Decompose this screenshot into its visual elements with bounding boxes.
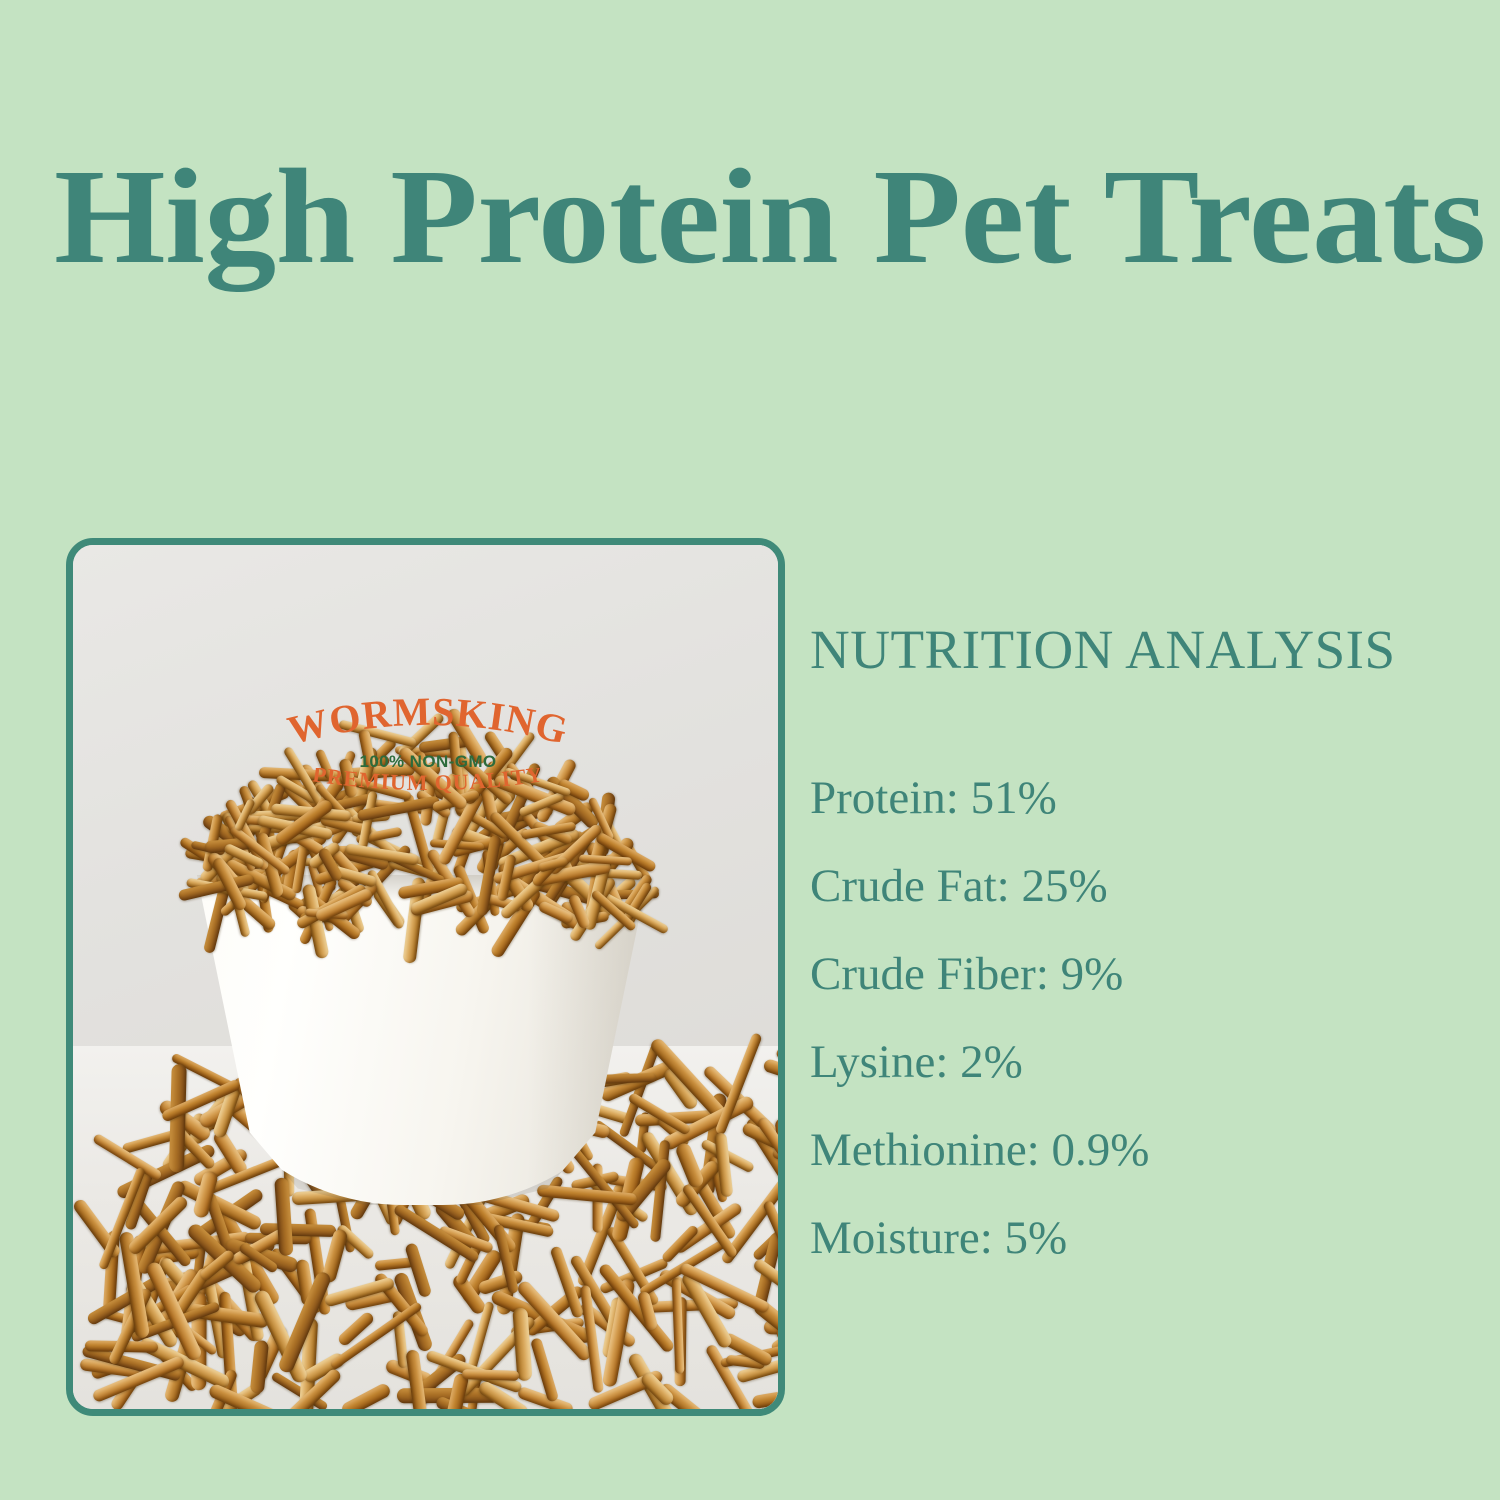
nutrition-item: Crude Fiber: 9% <box>810 951 1470 998</box>
mealworm <box>751 1382 778 1409</box>
nutrition-item: Moisture: 5% <box>810 1215 1470 1262</box>
mealworm <box>462 1369 519 1381</box>
nutrition-item: Lysine: 2% <box>810 1039 1470 1086</box>
mealworm <box>250 1340 269 1394</box>
poster-root: High Protein Pet Treats <box>0 0 1500 1500</box>
product-photo: WORMSKING 100% NON-GMO PREMIUM QUALITY <box>73 545 778 1409</box>
nutrition-heading: NUTRITION ANALYSIS <box>810 622 1470 677</box>
nutrition-item: Protein: 51% <box>810 775 1470 822</box>
mealworm <box>340 1381 393 1409</box>
product-photo-frame: WORMSKING 100% NON-GMO PREMIUM QUALITY <box>66 538 785 1416</box>
nutrition-item: Crude Fat: 25% <box>810 863 1470 910</box>
mealworm-pile <box>178 711 668 926</box>
mealworm <box>339 720 418 748</box>
nutrition-item: Methionine: 0.9% <box>810 1127 1470 1174</box>
nutrition-panel: NUTRITION ANALYSIS Protein: 51%Crude Fat… <box>810 622 1470 1303</box>
nutrition-list: Protein: 51%Crude Fat: 25%Crude Fiber: 9… <box>810 775 1470 1262</box>
mealworm <box>762 1058 778 1087</box>
page-title: High Protein Pet Treats <box>54 148 1500 287</box>
